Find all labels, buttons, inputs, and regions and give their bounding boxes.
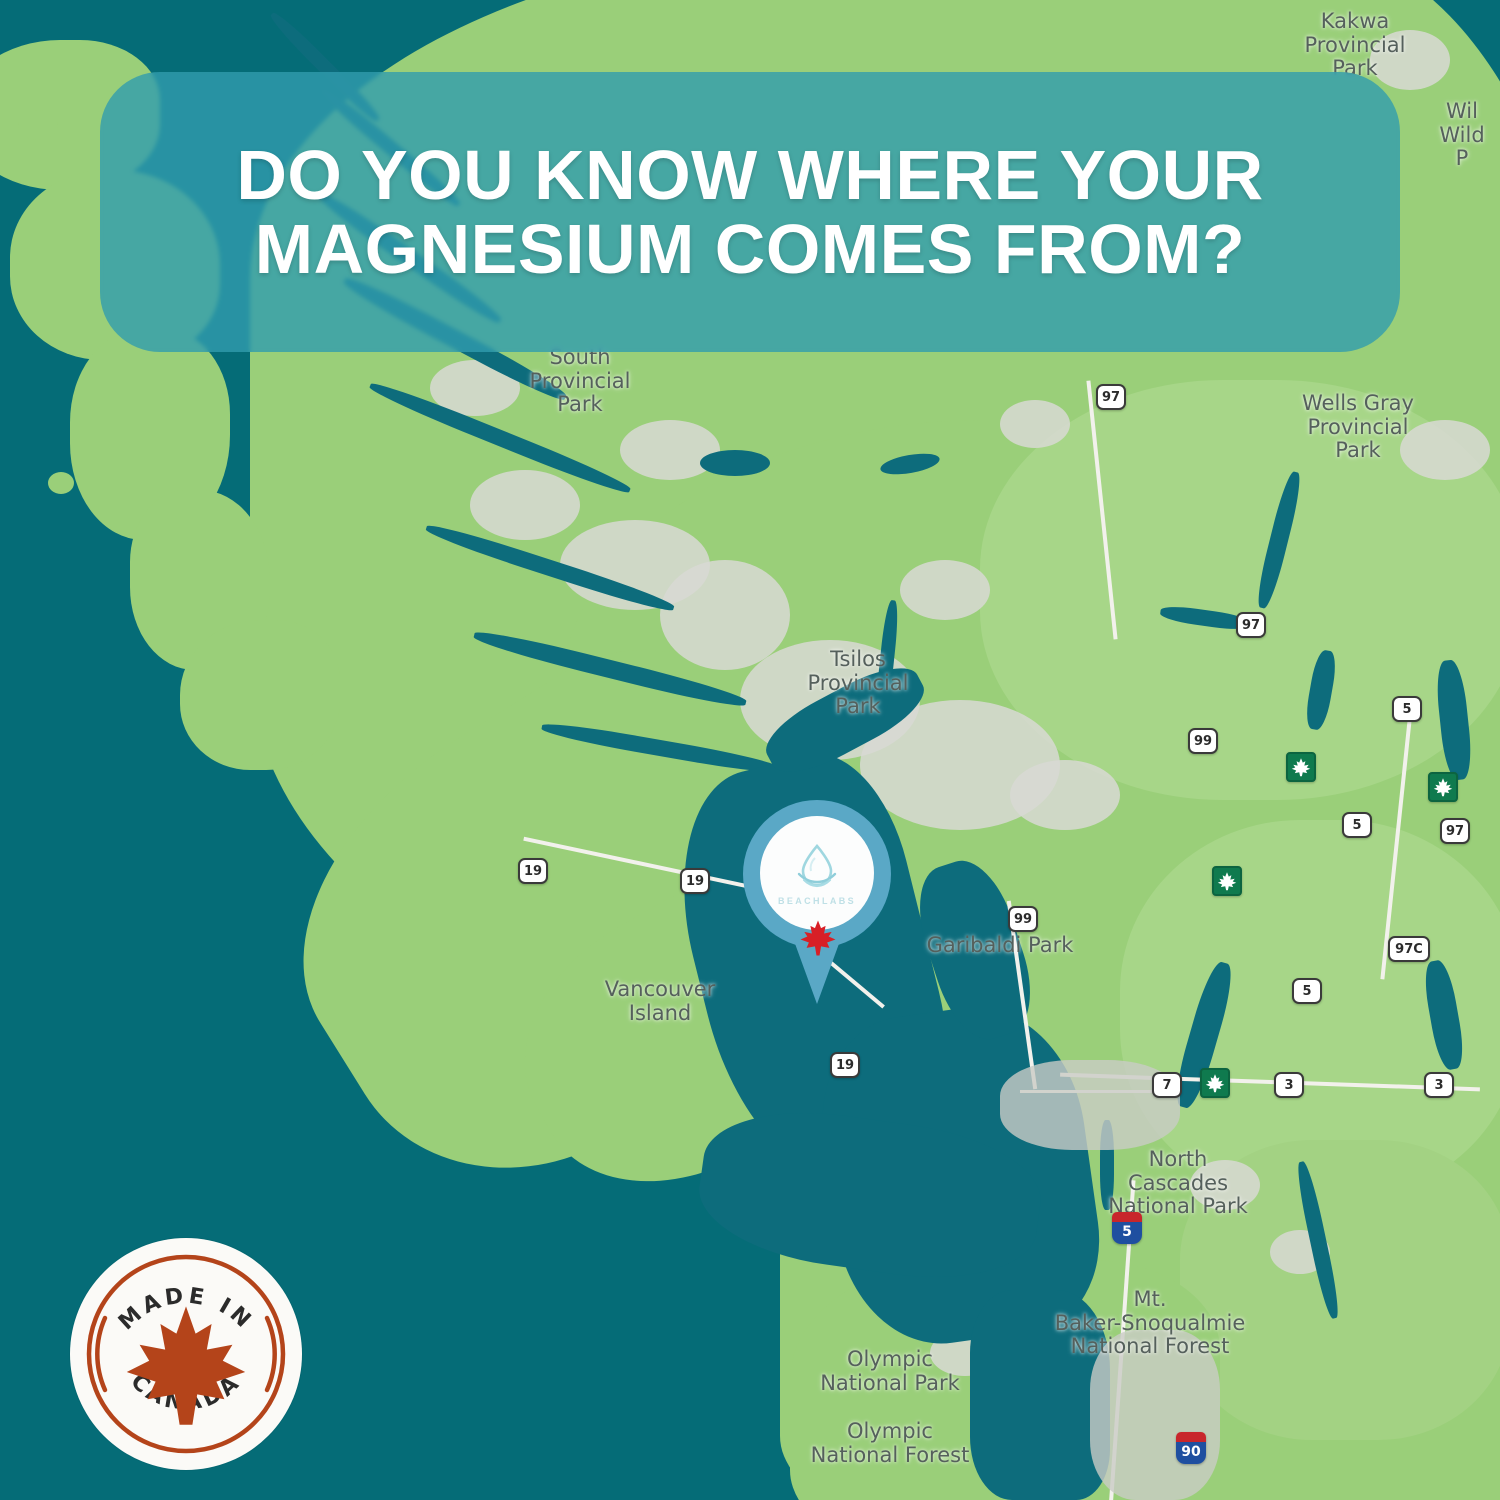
highway-shield-hwy-97-north[interactable]: 97 xyxy=(1096,384,1126,410)
highway-shield-i-5[interactable]: 5 xyxy=(1112,1212,1142,1244)
highway-shield-hwy-97-mid[interactable]: 97 xyxy=(1236,612,1266,638)
highway-shield-hwy-97-right[interactable]: 97 xyxy=(1440,818,1470,844)
highway-shield-hwy-5-upper[interactable]: 5 xyxy=(1392,696,1422,722)
highway-shield-hwy-97c[interactable]: 97C xyxy=(1388,936,1430,962)
highway-shield-hwy-19-west[interactable]: 19 xyxy=(518,858,548,884)
lake-interior-6 xyxy=(700,450,770,476)
map-infographic: Kakwa Provincial ParkWil Wild PSouth Pro… xyxy=(0,0,1500,1500)
alpine-patch-9 xyxy=(1370,30,1450,90)
highway-shield-hwy-99-upper[interactable]: 99 xyxy=(1188,728,1218,754)
pin-wordmark: BEACHLABS xyxy=(778,896,856,906)
alpine-patch-15 xyxy=(1000,400,1070,448)
highway-shield-hwy-5-mid[interactable]: 5 xyxy=(1342,812,1372,838)
alpine-patch-7 xyxy=(900,560,990,620)
island-small-3 xyxy=(18,110,58,140)
highway-shield-hwy-5-lower[interactable]: 5 xyxy=(1292,978,1322,1004)
pin-logo-disc: BEACHLABS xyxy=(760,816,874,930)
highway-shield-hwy-3-mid[interactable]: 3 xyxy=(1274,1072,1304,1098)
headline-line-1: DO YOU KNOW WHERE YOUR xyxy=(236,138,1263,212)
highway-shield-hwy-3-right[interactable]: 3 xyxy=(1424,1072,1454,1098)
urban-seattle xyxy=(1090,1330,1220,1500)
alpine-patch-1 xyxy=(470,470,580,540)
headline-banner: DO YOU KNOW WHERE YOUR MAGNESIUM COMES F… xyxy=(100,72,1400,352)
water-puget-sound xyxy=(970,1290,1110,1500)
alpine-patch-6 xyxy=(620,420,720,480)
highway-shield-tch-1-bottom[interactable] xyxy=(1200,1068,1230,1098)
made-in-canada-badge: MADE IN CANADA xyxy=(70,1238,302,1470)
island-small-1 xyxy=(48,472,74,494)
highway-shield-hwy-99-lower[interactable]: 99 xyxy=(1008,906,1038,932)
highway-shield-tch-1-lower[interactable] xyxy=(1212,866,1242,896)
island-haida-5 xyxy=(180,620,340,770)
highway-shield-tch-1-upper[interactable] xyxy=(1286,752,1316,782)
water-droplet-icon xyxy=(791,840,843,892)
highway-shield-tch-1-right[interactable] xyxy=(1428,772,1458,802)
highway-shield-hwy-19-south[interactable]: 19 xyxy=(830,1052,860,1078)
headline-line-2: MAGNESIUM COMES FROM? xyxy=(255,212,1245,286)
highway-shield-i-90[interactable]: 90 xyxy=(1176,1432,1206,1464)
highway-shield-hwy-7[interactable]: 7 xyxy=(1152,1072,1182,1098)
alpine-patch-10 xyxy=(1400,420,1490,480)
alpine-patch-8 xyxy=(1010,760,1120,830)
highway-shield-hwy-19-mid[interactable]: 19 xyxy=(680,868,710,894)
location-pin[interactable]: BEACHLABS xyxy=(743,800,891,1008)
maple-leaf-icon xyxy=(799,918,837,958)
alpine-patch-11 xyxy=(1190,1160,1260,1210)
